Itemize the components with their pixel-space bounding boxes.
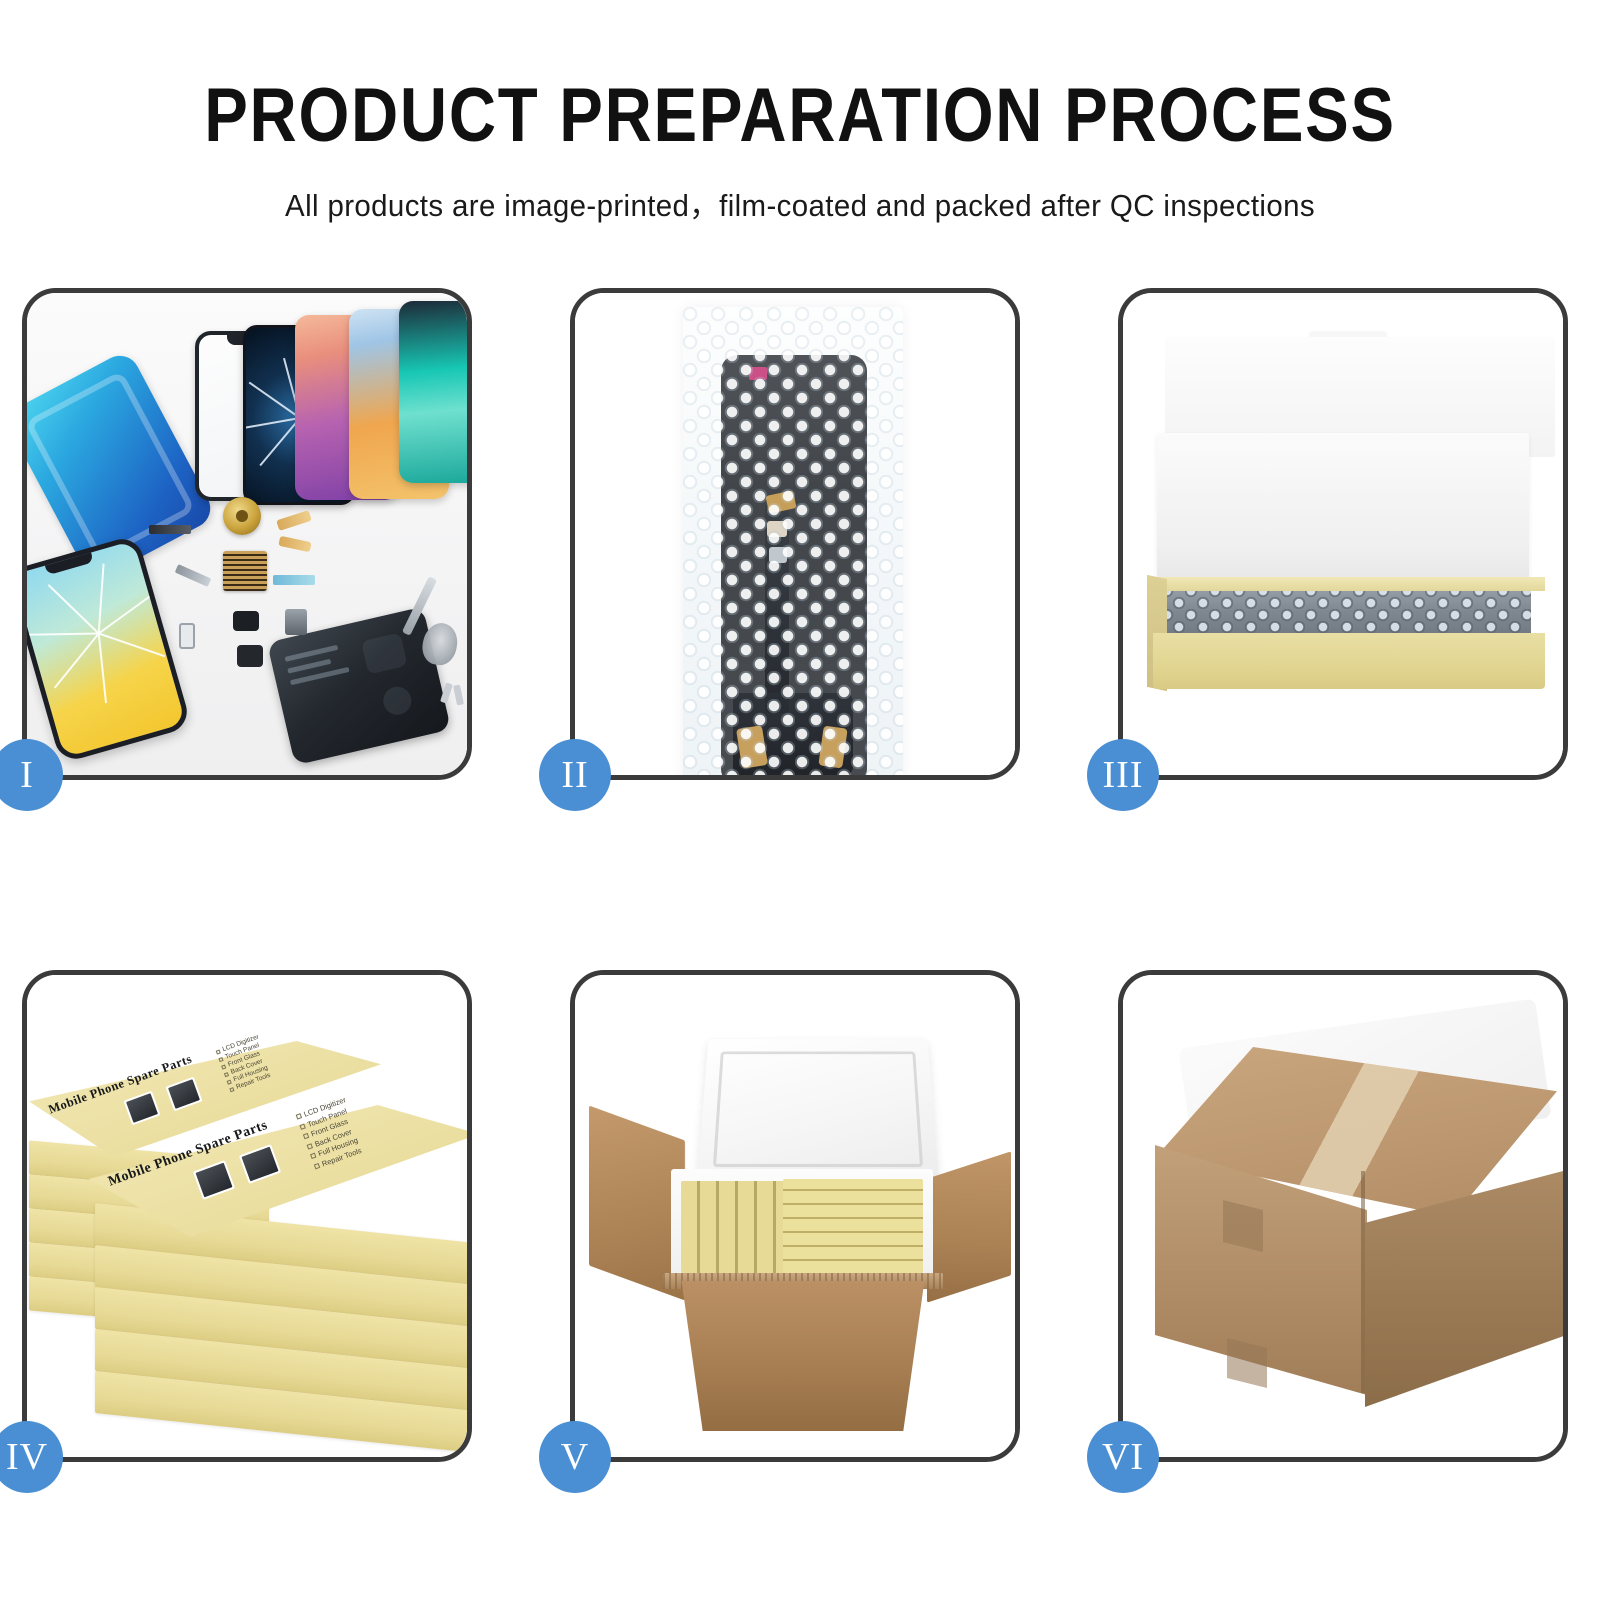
- step-badge-1: I: [0, 739, 63, 811]
- open-box-scene: [1123, 293, 1563, 775]
- step-panel-1: I: [22, 288, 472, 780]
- flex-cable-part-2: [278, 536, 311, 552]
- carton-vertical-edge: [1361, 1171, 1365, 1393]
- step-image-6: [1123, 975, 1563, 1457]
- tape-patch-lower: [1227, 1338, 1267, 1388]
- step-badge-4: IV: [0, 1421, 63, 1493]
- process-steps-grid: I: [22, 288, 1578, 1468]
- gold-boxes-fill-right: [783, 1179, 923, 1273]
- header: PRODUCT PREPARATION PROCESS All products…: [0, 78, 1600, 225]
- step-badge-3: III: [1087, 739, 1159, 811]
- bubble-texture: [683, 307, 903, 775]
- step-image-4: Mobile Phone Spare Parts LCD Digitizer T…: [27, 975, 467, 1457]
- screw-part-2: [453, 684, 464, 705]
- screw-part-1: [440, 682, 453, 703]
- step-panel-3: III: [1118, 288, 1568, 780]
- step-badge-6: VI: [1087, 1421, 1159, 1493]
- speaker-module-part: [285, 609, 307, 635]
- box-front-panel: [1153, 633, 1545, 689]
- step-image-2: [575, 293, 1015, 775]
- cracked-phone-yellow: [27, 534, 192, 764]
- stacked-boxes-scene: Mobile Phone Spare Parts LCD Digitizer T…: [27, 975, 467, 1457]
- sim-tray-part: [179, 623, 195, 649]
- carton-side-face: [1365, 1171, 1563, 1407]
- teal-display-part: [399, 301, 467, 483]
- step-badge-2: II: [539, 739, 611, 811]
- bubble-wrap-bag: [683, 307, 903, 775]
- flex-cable-part-1: [276, 510, 312, 531]
- step-panel-4: Mobile Phone Spare Parts LCD Digitizer T…: [22, 970, 472, 1462]
- foam-lid: [697, 1039, 939, 1182]
- ic-chip-part: [223, 551, 267, 591]
- carton-body: [671, 1281, 935, 1431]
- step-badge-5: V: [539, 1421, 611, 1493]
- button-module-part: [237, 645, 263, 667]
- phone-parts-scene: [27, 293, 467, 775]
- flex-cable-part-3: [175, 564, 212, 587]
- step-panel-6: VI: [1118, 970, 1568, 1462]
- page-title: PRODUCT PREPARATION PROCESS: [112, 78, 1488, 154]
- step-image-3: [1123, 293, 1563, 775]
- box-lid-front: [1157, 433, 1529, 591]
- step-panel-5: V: [570, 970, 1020, 1462]
- page-subtitle: All products are image-printed，film-coat…: [40, 180, 1560, 225]
- box-front-lip: [1153, 577, 1545, 591]
- bubble-wrap-scene: [575, 293, 1015, 775]
- flex-cable-part-4: [273, 575, 315, 585]
- infographic-page: PRODUCT PREPARATION PROCESS All products…: [0, 0, 1600, 1600]
- speaker-mesh-part: [149, 525, 191, 534]
- camera-module-part: [233, 611, 259, 631]
- wireless-charging-coil-part: [223, 497, 261, 535]
- sealed-carton-scene: [1123, 975, 1563, 1457]
- step-image-1: [27, 293, 467, 775]
- step-image-5: [575, 975, 1015, 1457]
- carton-packing-scene: [575, 975, 1015, 1457]
- step-panel-2: II: [570, 288, 1020, 780]
